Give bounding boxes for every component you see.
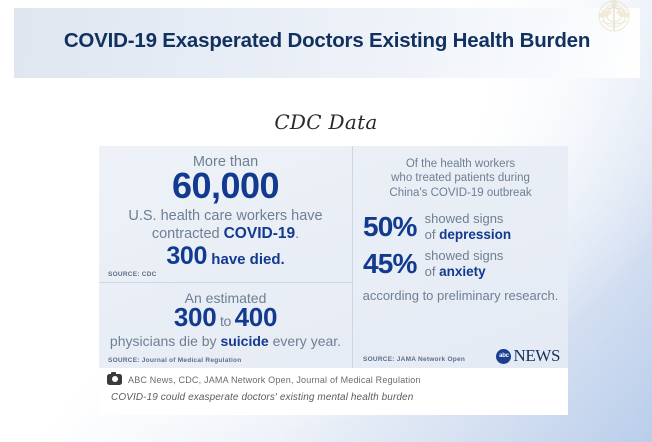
caption-sources-row: ABC News, CDC, JAMA Network Open, Journa…	[107, 374, 568, 385]
suicide-range: 300 to 400	[99, 304, 352, 331]
stat-anxiety: 45% showed signs of anxiety	[363, 249, 560, 279]
camera-icon	[107, 374, 122, 385]
china-study-intro-line3: China's COVID-19 outbreak	[359, 186, 562, 200]
infographic-right-column: Of the health workers who treated patien…	[352, 146, 568, 368]
caption-headline: COVID-19 could exasperate doctors' exist…	[111, 392, 568, 403]
page-title: COVID-19 Exasperated Doctors Existing He…	[14, 29, 640, 53]
suicide-tail-suffix: every year.	[269, 333, 341, 349]
covid-cases-line4-suffix: .	[295, 226, 299, 242]
abc-circle-logo-text: abc	[499, 353, 509, 359]
suicide-number-high: 400	[235, 302, 277, 332]
abc-circle-logo-icon: abc	[496, 349, 511, 364]
covid-cases-line4-prefix: contracted	[152, 226, 224, 242]
suicide-tail-prefix: physicians die by	[110, 333, 221, 349]
covid-cases-big-number: 60,000	[99, 168, 352, 205]
china-study-intro: Of the health workers who treated patien…	[359, 157, 562, 200]
infographic-card: More than 60,000 U.S. health care worker…	[99, 146, 568, 368]
suicide-number-low: 300	[174, 302, 216, 332]
section-title: CDC Data	[0, 110, 652, 134]
china-study-intro-line1: Of the health workers	[359, 157, 562, 171]
stat-anxiety-label: showed signs of anxiety	[425, 249, 504, 279]
suicide-tail-bold: suicide	[220, 333, 268, 349]
stat-anxiety-value: 45%	[363, 250, 417, 278]
stat-depression-label: showed signs of depression	[425, 212, 512, 242]
covid-cases-line4: contracted COVID-19.	[99, 226, 352, 242]
covid-cases-line4-bold: COVID-19	[224, 225, 296, 242]
suicide-connector: to	[216, 313, 234, 329]
stat-anxiety-label-line1: showed signs	[425, 249, 504, 264]
caption-band: ABC News, CDC, JAMA Network Open, Journa…	[99, 368, 568, 415]
suicide-tail: physicians die by suicide every year.	[99, 334, 352, 348]
stat-depression-label-bold: depression	[439, 227, 511, 242]
caption-sources-text: ABC News, CDC, JAMA Network Open, Journa…	[128, 375, 421, 385]
header-banner: COVID-19 Exasperated Doctors Existing He…	[14, 8, 640, 78]
stat-panel-suicide: An estimated 300 to 400 physicians die b…	[99, 283, 352, 368]
covid-cases-line3: U.S. health care workers have	[99, 209, 352, 224]
china-study-intro-line2: who treated patients during	[359, 171, 562, 185]
stat-panel-covid-cases: More than 60,000 U.S. health care worker…	[99, 146, 352, 283]
stat-anxiety-label-bold: anxiety	[439, 264, 486, 279]
stat-depression-label-prefix: of	[425, 227, 439, 242]
stat-anxiety-label-prefix: of	[425, 264, 439, 279]
covid-deaths-number: 300	[166, 242, 207, 270]
source-cdc: SOURCE: CDC	[108, 271, 157, 278]
covid-deaths-text: have died.	[207, 251, 285, 268]
covid-deaths-line: 300 have died.	[99, 244, 352, 270]
stat-depression-label-line2: of depression	[425, 227, 512, 243]
abc-news-logo: abc NEWS	[496, 346, 560, 366]
stat-anxiety-label-line2: of anxiety	[425, 264, 504, 280]
stat-depression: 50% showed signs of depression	[363, 212, 560, 242]
slide-background: COVID-19 Exasperated Doctors Existing He…	[0, 0, 652, 442]
abc-news-wordmark: NEWS	[513, 346, 560, 366]
source-journal-medical-regulation: SOURCE: Journal of Medical Regulation	[108, 357, 241, 364]
stat-depression-value: 50%	[363, 213, 417, 241]
china-study-outro: according to preliminary research.	[357, 288, 564, 303]
infographic-left-column: More than 60,000 U.S. health care worker…	[99, 146, 352, 368]
source-jama-network-open: SOURCE: JAMA Network Open	[363, 356, 465, 363]
stat-depression-label-line1: showed signs	[425, 212, 512, 227]
